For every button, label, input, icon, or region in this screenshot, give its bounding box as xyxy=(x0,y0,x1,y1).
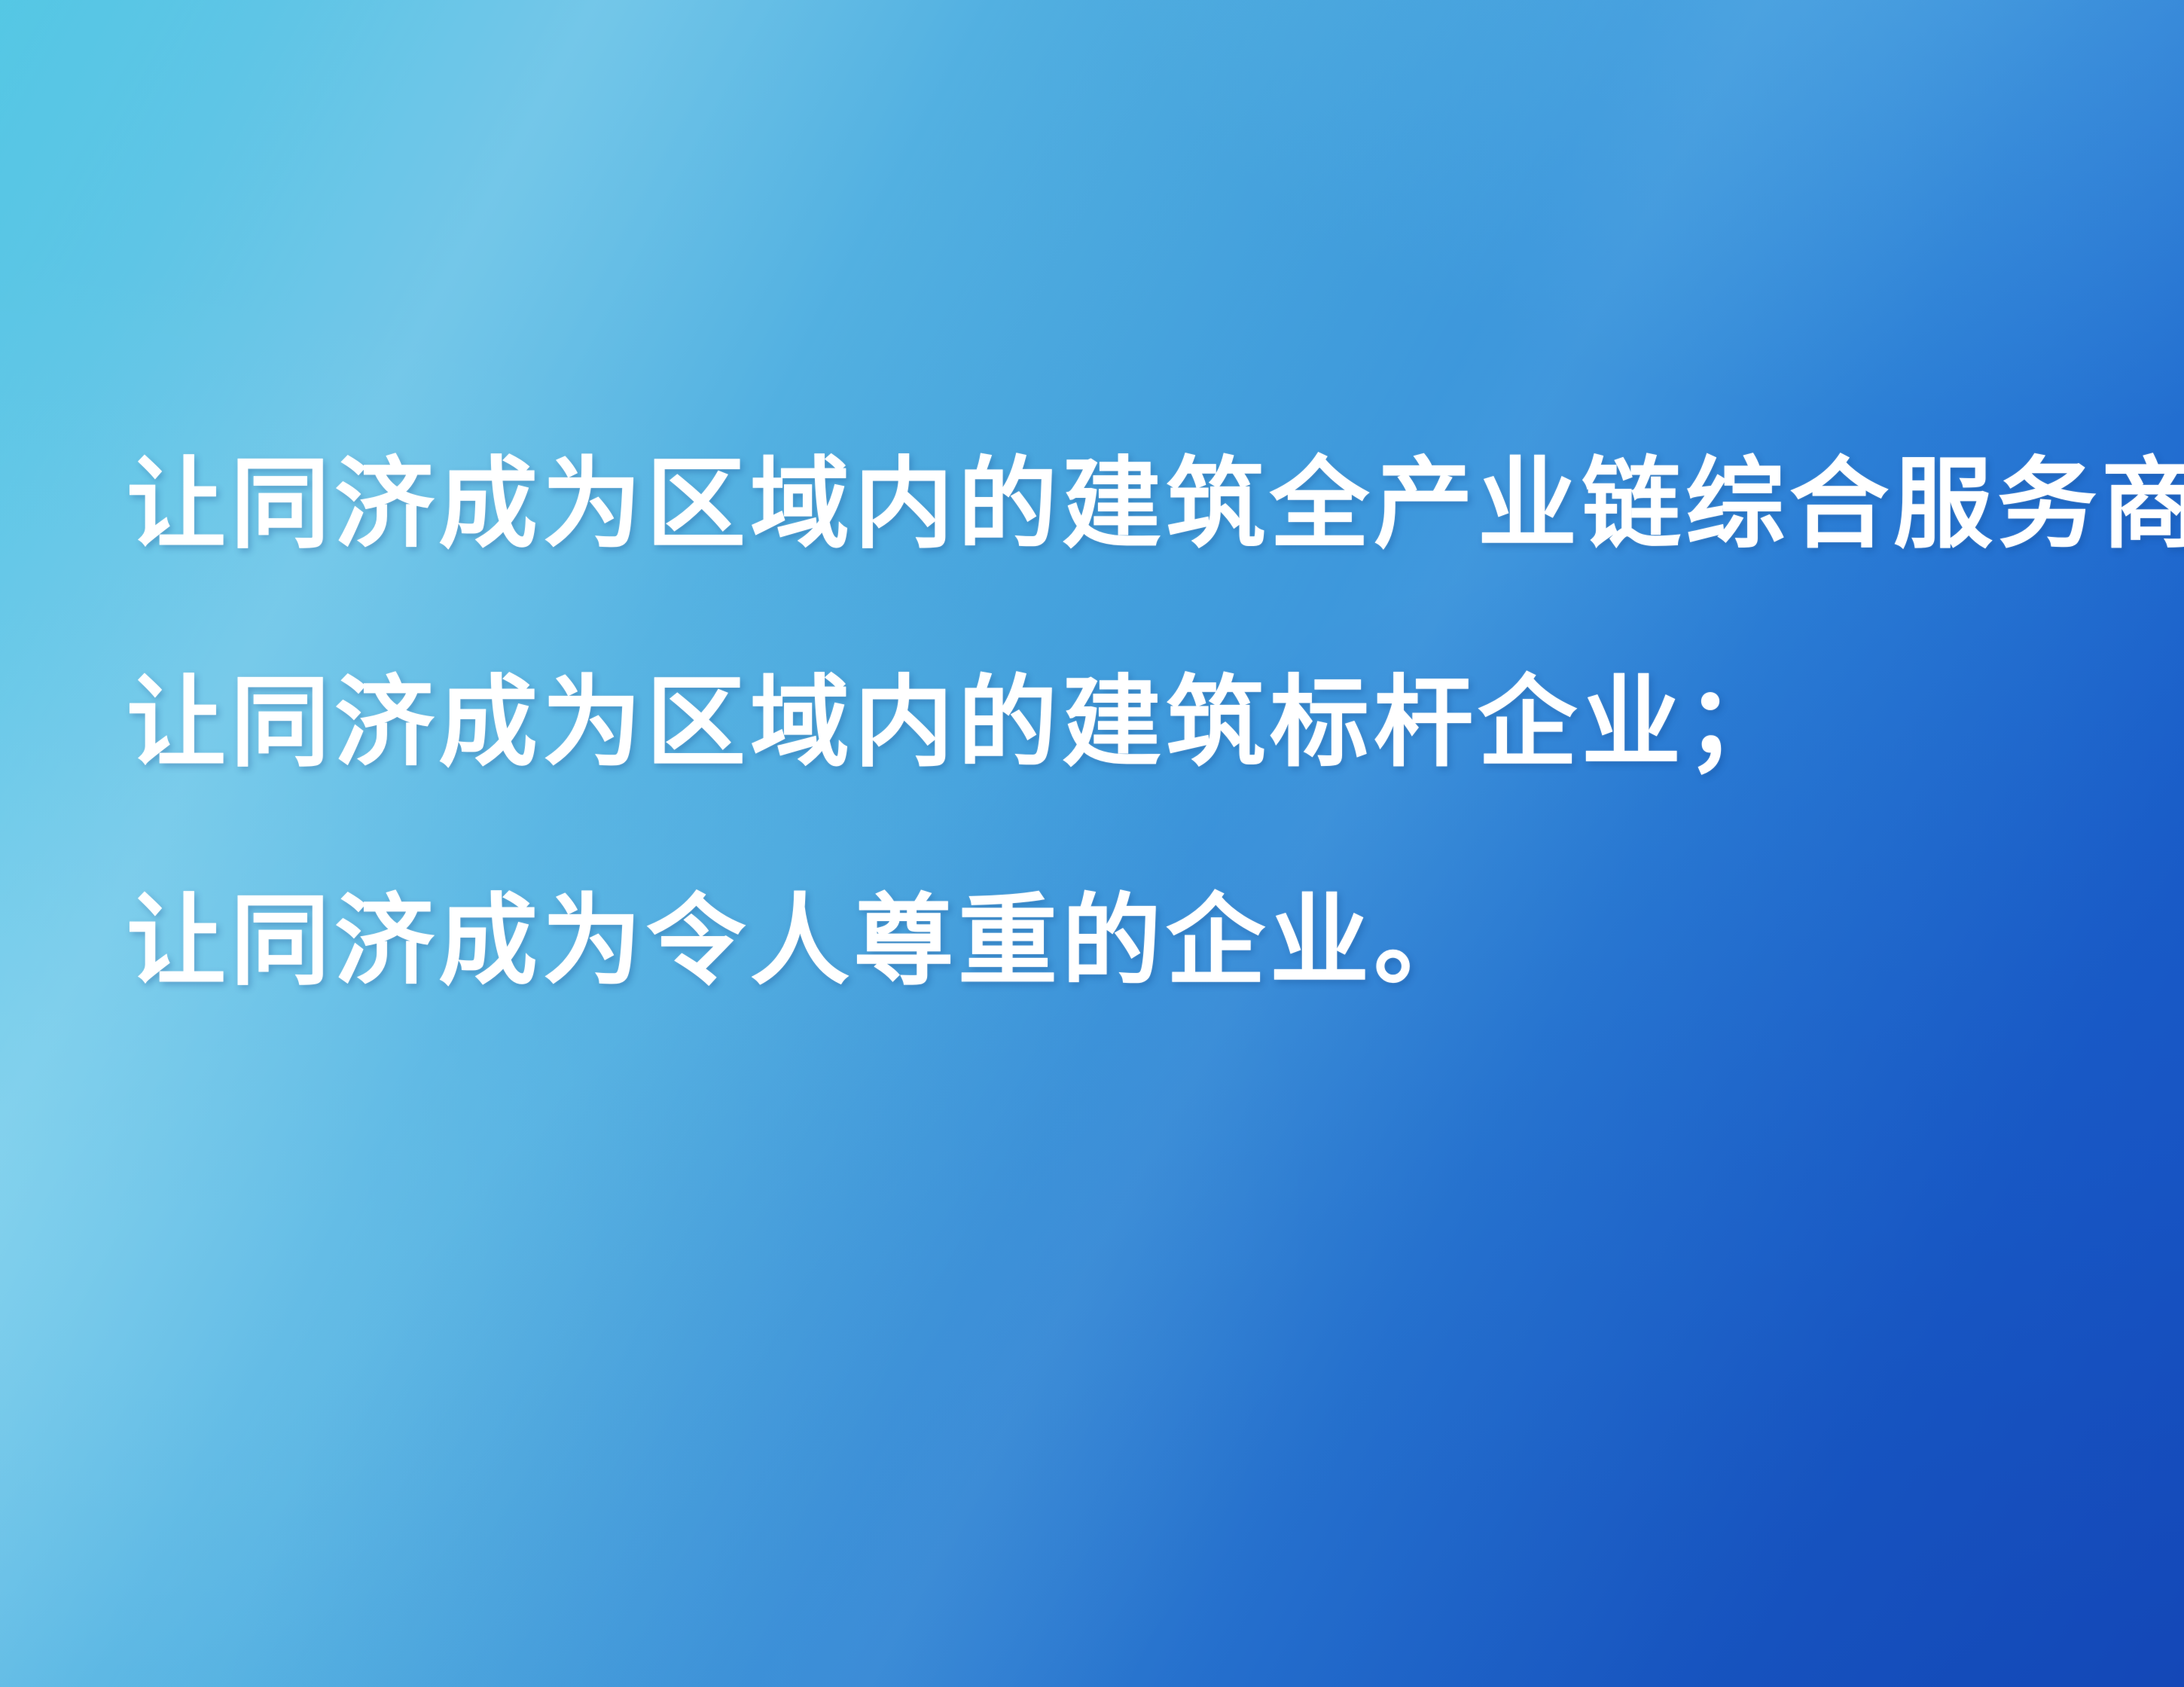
slide-text-block: 让同济成为区域内的建筑全产业链综合服务商； 让同济成为区域内的建筑标杆企业； 让… xyxy=(127,452,2115,994)
slide-text-line-1: 让同济成为区域内的建筑全产业链综合服务商； xyxy=(127,452,2115,557)
slide-text-line-2: 让同济成为区域内的建筑标杆企业； xyxy=(127,670,2115,776)
slide-canvas: 让同济成为区域内的建筑全产业链综合服务商； 让同济成为区域内的建筑标杆企业； 让… xyxy=(0,0,2184,1687)
slide-text-line-3: 让同济成为令人尊重的企业。 xyxy=(127,889,2115,994)
